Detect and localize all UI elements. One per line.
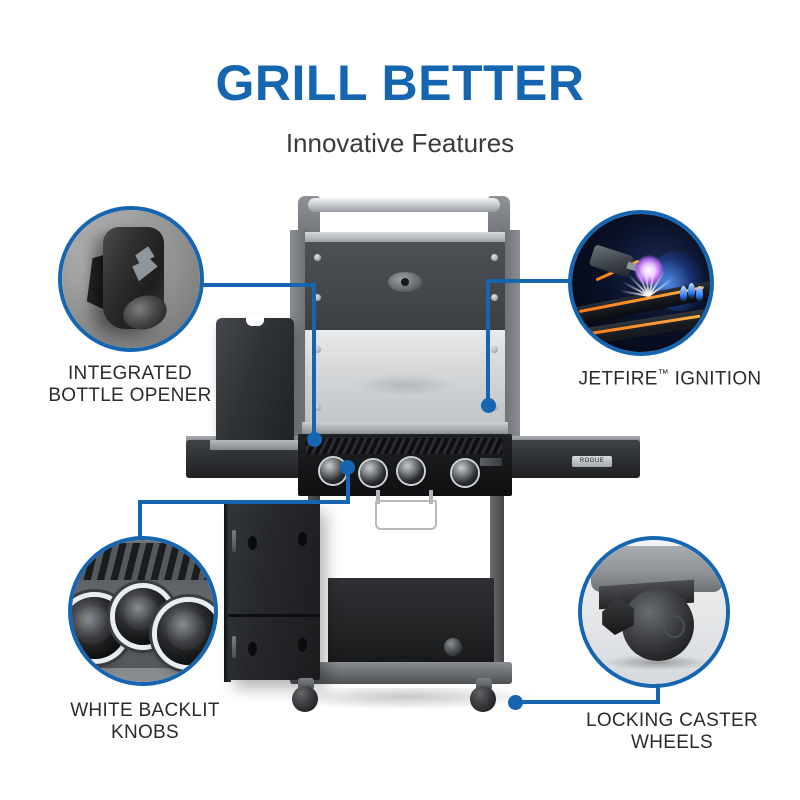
product-badge: ROGUE	[572, 456, 612, 467]
page-subtitle: Innovative Features	[0, 130, 800, 156]
cart-door-seam	[228, 614, 320, 617]
callout-circle-knobs[interactable]	[68, 536, 218, 686]
connector-dot-knobs	[340, 460, 355, 475]
connector-line-knobs-vertical-left	[138, 500, 142, 538]
connector-line-jetfire-horizontal	[486, 279, 572, 283]
knob-face	[124, 596, 159, 631]
callout-circle-bottle-opener[interactable]	[58, 206, 204, 352]
callout-label-jetfire: JETFIRE™ IGNITION	[548, 368, 792, 391]
knob-face	[167, 611, 206, 650]
control-knob[interactable]	[398, 458, 424, 484]
cart-door-hole	[248, 642, 257, 656]
callout-label-knobs: WHITE BACKLIT KNOBS	[30, 700, 260, 745]
connector-dot-caster	[508, 695, 523, 710]
cart-door-hole	[248, 536, 257, 550]
control-panel-logo	[480, 458, 502, 466]
control-knob[interactable]	[360, 460, 386, 486]
callout-label-bottle-opener: INTEGRATED BOTTLE OPENER	[10, 363, 250, 408]
trademark-symbol: ™	[658, 368, 669, 380]
lid-handle-bar	[308, 198, 500, 212]
caster-wheel-hub	[663, 615, 686, 638]
floor-shadow	[276, 688, 536, 710]
jetfire-flame	[680, 286, 687, 302]
lid-screw	[314, 254, 321, 261]
bottle-opener-notch	[246, 316, 264, 326]
page-title: GRILL BETTER	[0, 58, 800, 108]
cart-door-latch[interactable]	[232, 530, 236, 552]
control-panel-vents	[306, 438, 502, 454]
connector-line-bottle-opener-vertical	[312, 283, 316, 439]
lid-bottom-strip	[302, 422, 508, 434]
jetfire-flame	[696, 286, 703, 302]
callout-circle-jetfire[interactable]	[568, 210, 714, 356]
callout-label-caster: LOCKING CASTER WHEELS	[552, 710, 792, 755]
lid-vent-hole	[401, 278, 409, 286]
grease-tray	[375, 500, 437, 530]
lid-screw	[491, 346, 498, 353]
cart-back-panel	[328, 578, 494, 662]
knob-face	[73, 606, 112, 645]
cart-door-open[interactable]	[228, 504, 320, 680]
connector-line-bottle-opener-horizontal	[198, 283, 316, 287]
control-knob[interactable]	[452, 460, 478, 486]
backlit-knob	[157, 602, 218, 664]
connector-line-jetfire-vertical	[486, 279, 490, 407]
caster-wheel-rear	[444, 638, 462, 656]
bottle-opener-base	[210, 440, 302, 450]
cart-door-latch[interactable]	[232, 636, 236, 658]
infographic-canvas: GRILL BETTER Innovative Features ROGU	[0, 0, 800, 800]
callout-label-jetfire-main: JETFIRE	[579, 368, 658, 389]
callout-circle-caster[interactable]	[578, 536, 730, 688]
lid-top-strip	[305, 232, 505, 242]
cart-door-hole	[298, 532, 307, 546]
connector-dot-bottle-opener	[307, 432, 322, 447]
connector-dot-jetfire	[481, 398, 496, 413]
brand-emblem	[355, 374, 455, 396]
connector-line-knobs-horizontal	[138, 500, 350, 504]
cart-door-hole	[298, 638, 307, 652]
callout-label-jetfire-rest: IGNITION	[669, 368, 761, 389]
lid-screw	[491, 294, 498, 301]
lid-screw	[491, 254, 498, 261]
connector-line-caster-horizontal	[516, 700, 660, 704]
jetfire-flame	[688, 283, 695, 299]
knobs-vent-slots	[68, 543, 218, 580]
